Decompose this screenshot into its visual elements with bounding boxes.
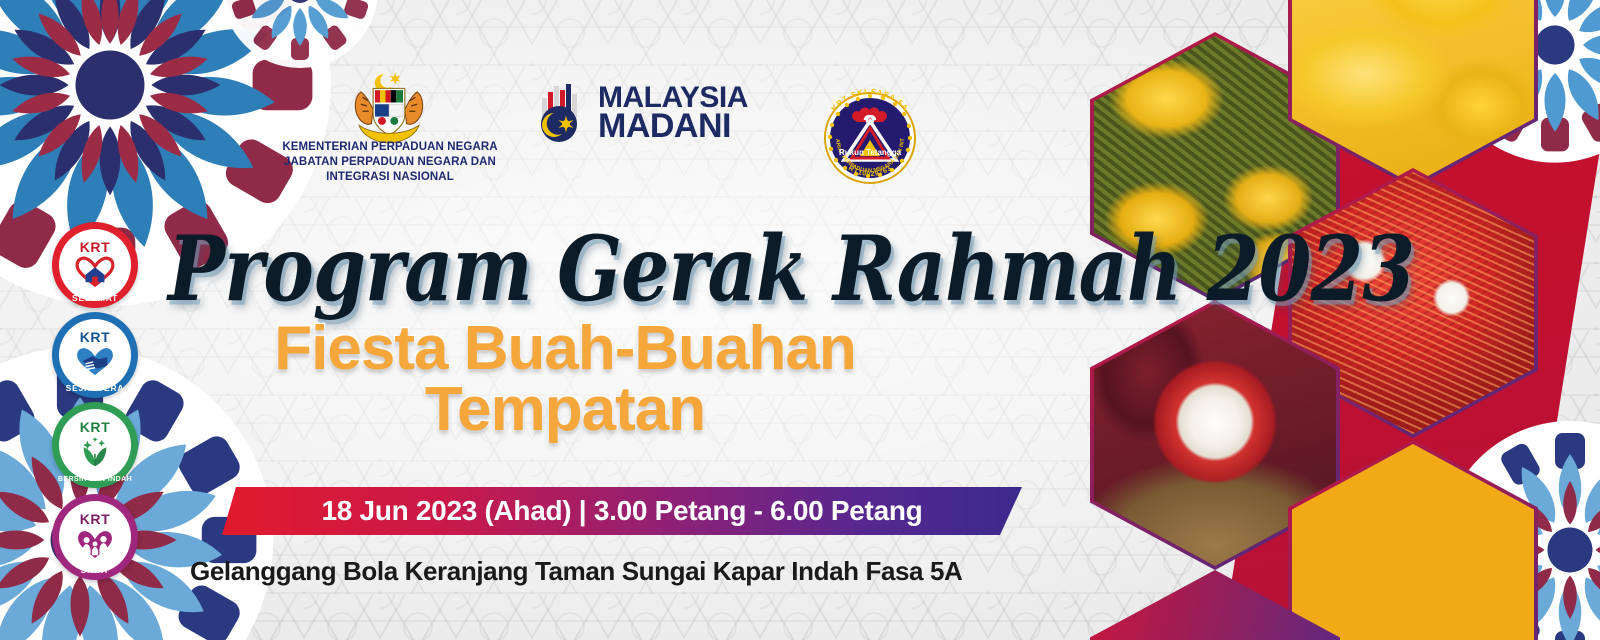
event-banner: KRTSELAMATKRTSEJAHTERAKRTBERSIH DAN INDA… xyxy=(0,0,1600,640)
krt-badge-inner: KRT xyxy=(59,501,131,573)
event-subtitle: Fiesta Buah-Buahan Tempatan xyxy=(0,318,1600,441)
malaysia-madani-logo: MALAYSIA MADANI xyxy=(532,82,748,144)
ministry-line-1: KEMENTERIAN PERPADUAN NEGARA xyxy=(255,140,525,155)
krt-badge-keyword: KRT xyxy=(80,512,111,526)
ministry-caption: KEMENTERIAN PERPADUAN NEGARA JABATAN PER… xyxy=(255,140,525,186)
event-subtitle-line-1: Fiesta Buah-Buahan xyxy=(0,318,1130,379)
jata-negara-coat-of-arms xyxy=(345,62,433,150)
ministry-line-3: INTEGRASI NASIONAL xyxy=(255,170,525,185)
krt-badge-sihat: KRTSIHAT xyxy=(52,494,138,580)
ministry-line-2: JABATAN PERPADUAN NEGARA DAN xyxy=(255,155,525,170)
heart-house-icon xyxy=(73,254,117,292)
krt-badge-label: SIHAT xyxy=(52,565,138,575)
venue-text: Gelanggang Bola Keranjang Taman Sungai K… xyxy=(190,556,962,587)
datetime-ribbon: 18 Jun 2023 (Ahad) | 3.00 Petang - 6.00 … xyxy=(222,487,1022,535)
datetime-text: 18 Jun 2023 (Ahad) | 3.00 Petang - 6.00 … xyxy=(322,495,923,527)
madani-line-2: MADANI xyxy=(598,111,748,142)
krt-badge-label: SELAMAT xyxy=(52,293,138,303)
madani-mark-icon xyxy=(532,82,590,144)
krt-badge-selamat: KRTSELAMAT xyxy=(52,222,138,308)
krt-badge-inner: KRT xyxy=(59,229,131,301)
program-title: Program Gerak Rahmah 2023 xyxy=(168,216,1414,321)
krt-badge-label: BERSIH DAN INDAH xyxy=(52,476,138,483)
krt-badge-keyword: KRT xyxy=(80,240,111,254)
event-subtitle-line-2: Tempatan xyxy=(0,379,1130,440)
family-icon xyxy=(73,526,117,564)
krt-ski-fasa-5a-seal: KRT SKI FASA 5A SEKRETARIAT PERPADUAN NE… xyxy=(800,76,940,184)
seal-center-text: Rukun Tetangga xyxy=(839,148,902,157)
